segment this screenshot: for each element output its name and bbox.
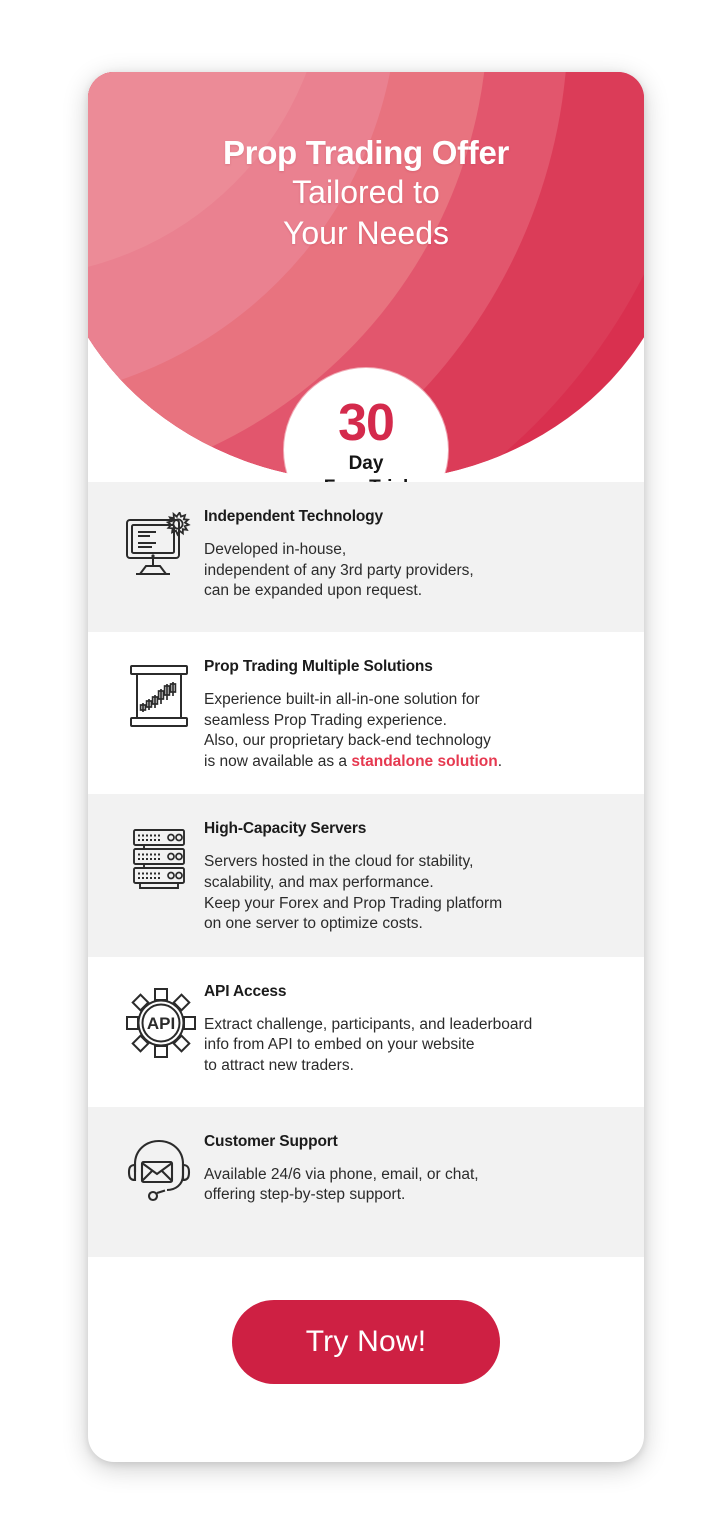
hero-header: Prop Trading Offer Tailored to Your Need…: [88, 72, 644, 482]
hero-title-line-3: Your Needs: [88, 213, 644, 254]
feature-description: Available 24/6 via phone, email, or chat…: [204, 1165, 618, 1206]
try-now-button[interactable]: Try Now!: [232, 1300, 500, 1384]
feature-row: API API Access Extract challenge, partic…: [88, 957, 644, 1107]
hero-title-line-1: Prop Trading Offer: [88, 134, 644, 172]
feature-title: Independent Technology: [204, 508, 618, 526]
feature-text: Independent Technology Developed in-hous…: [204, 504, 618, 602]
headset-mail-icon: [118, 1129, 204, 1221]
feature-description: Servers hosted in the cloud for stabilit…: [204, 852, 618, 934]
hero-title-line-2: Tailored to: [88, 172, 644, 213]
feature-description: Extract challenge, participants, and lea…: [204, 1015, 618, 1077]
chart-board-icon: [118, 654, 204, 746]
standalone-solution-link[interactable]: standalone solution: [351, 753, 497, 770]
feature-text: API Access Extract challenge, participan…: [204, 979, 618, 1077]
feature-row: Prop Trading Multiple Solutions Experien…: [88, 632, 644, 794]
badge-trial-label: Free Trial: [324, 476, 409, 482]
badge-unit-label: Day: [349, 451, 384, 477]
feature-description-part-2: .: [498, 753, 502, 770]
feature-row: Independent Technology Developed in-hous…: [88, 482, 644, 632]
server-rack-icon: [118, 816, 204, 908]
api-gear-icon: API: [118, 979, 204, 1071]
cta-section: Try Now!: [88, 1257, 644, 1427]
feature-text: High-Capacity Servers Servers hosted in …: [204, 816, 618, 934]
feature-description: Developed in-house, independent of any 3…: [204, 540, 618, 602]
feature-row: High-Capacity Servers Servers hosted in …: [88, 794, 644, 956]
api-gear-icon-label: API: [147, 1014, 175, 1033]
feature-list: Independent Technology Developed in-hous…: [88, 482, 644, 1257]
feature-title: API Access: [204, 983, 618, 1001]
feature-description: Experience built-in all-in-one solution …: [204, 690, 618, 772]
promo-card: Prop Trading Offer Tailored to Your Need…: [88, 72, 644, 1462]
feature-text: Customer Support Available 24/6 via phon…: [204, 1129, 618, 1206]
feature-row: Customer Support Available 24/6 via phon…: [88, 1107, 644, 1257]
desktop-gear-icon: [118, 504, 204, 596]
badge-number: 30: [338, 399, 394, 448]
feature-title: Prop Trading Multiple Solutions: [204, 658, 618, 676]
feature-title: High-Capacity Servers: [204, 820, 618, 838]
feature-title: Customer Support: [204, 1133, 618, 1151]
hero-title-group: Prop Trading Offer Tailored to Your Need…: [88, 134, 644, 254]
feature-text: Prop Trading Multiple Solutions Experien…: [204, 654, 618, 772]
